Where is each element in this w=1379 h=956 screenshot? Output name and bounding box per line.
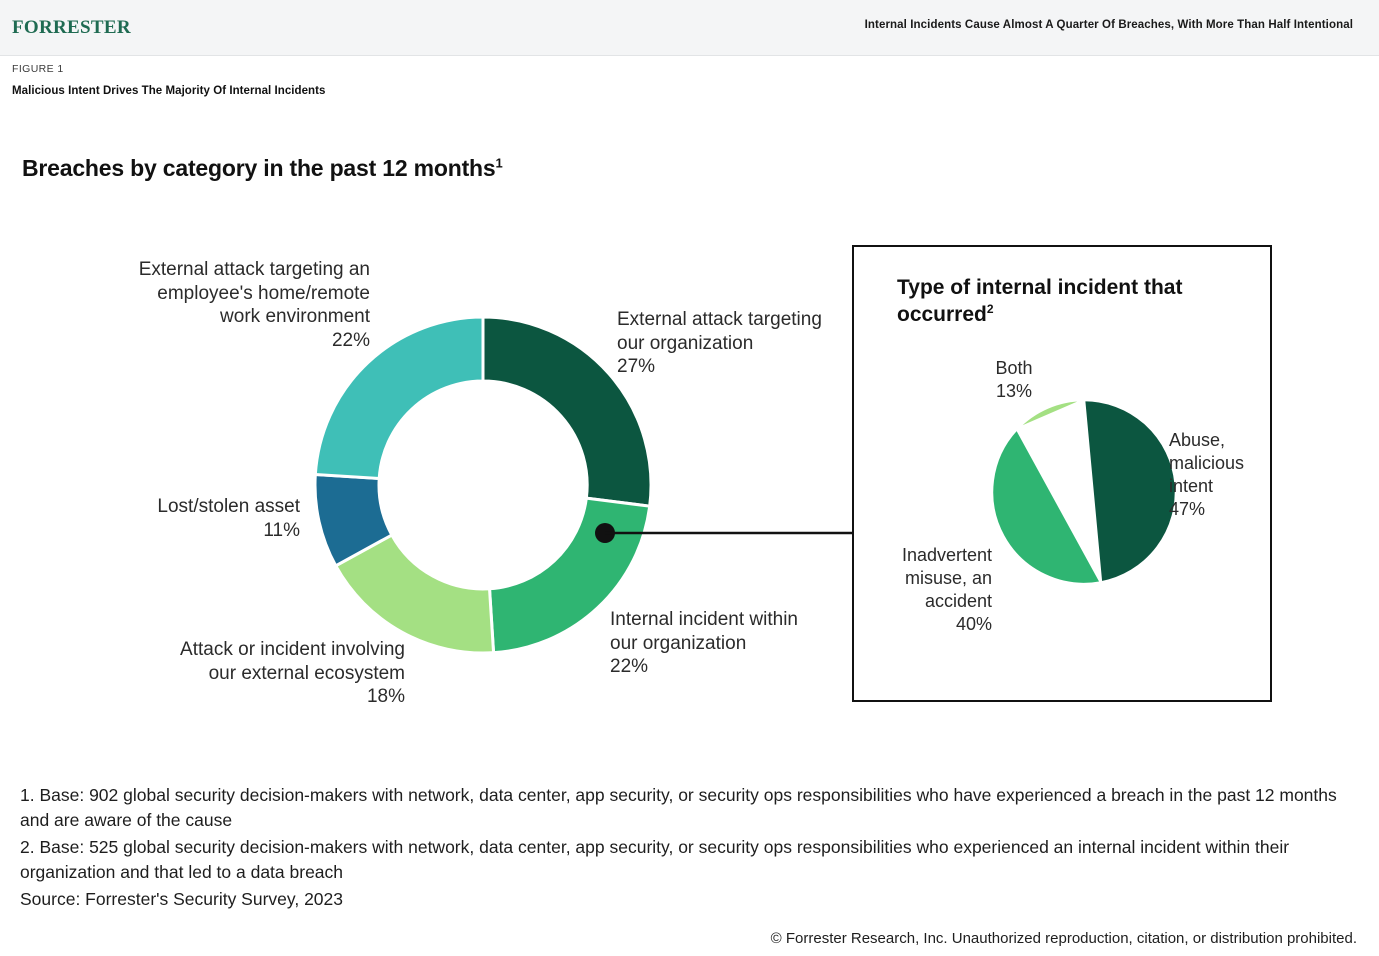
footnote-1: 1. Base: 902 global security decision-ma…: [20, 783, 1360, 832]
figure-page: FORRESTER Internal Incidents Cause Almos…: [0, 0, 1379, 956]
footnotes-block: 1. Base: 902 global security decision-ma…: [20, 783, 1360, 915]
footnote-2: 2. Base: 525 global security decision-ma…: [20, 835, 1360, 884]
chart-title: Breaches by category in the past 12 mont…: [22, 155, 503, 182]
pie-svg: [989, 397, 1179, 587]
leader-svg: [594, 520, 864, 546]
page-header: FORRESTER Internal Incidents Cause Almos…: [0, 0, 1379, 56]
pie-slice-both: [1017, 400, 1084, 429]
callout-leader-line: [594, 520, 864, 546]
internal-incident-pie-chart: [989, 397, 1179, 587]
donut-label-lost-stolen-asset: Lost/stolen asset 11%: [95, 495, 300, 542]
forrester-logo: FORRESTER: [12, 17, 131, 39]
inset-title-text: Type of internal incident that occurred: [897, 276, 1182, 326]
figure-title: Malicious Intent Drives The Majority Of …: [12, 85, 325, 97]
copyright-notice: © Forrester Research, Inc. Unauthorized …: [771, 930, 1357, 947]
chart-title-text: Breaches by category in the past 12 mont…: [22, 155, 495, 181]
pie-label-both: Both 13%: [959, 357, 1069, 403]
inset-title: Type of internal incident that occurred2: [897, 274, 1227, 328]
pie-label-abuse-malicious-intent: Abuse, malicious intent 47%: [1169, 429, 1279, 521]
donut-label-external-ecosystem: Attack or incident involving our externa…: [95, 638, 405, 709]
pie-slice-inadvertent-misuse: [992, 429, 1101, 584]
donut-label-remote-work-attack: External attack targeting an employee's …: [95, 258, 370, 352]
running-title: Internal Incidents Cause Almost A Quarte…: [865, 19, 1353, 31]
footnote-source: Source: Forrester's Security Survey, 202…: [20, 887, 1360, 912]
donut-label-internal-incident: Internal incident within our organizatio…: [610, 608, 850, 679]
chart-title-footnote-marker: 1: [495, 155, 502, 170]
pie-label-inadvertent-misuse: Inadvertent misuse, an accident 40%: [862, 544, 992, 636]
internal-incident-inset-panel: Type of internal incident that occurred2…: [852, 245, 1272, 702]
inset-title-footnote-marker: 2: [987, 302, 994, 316]
donut-label-external-attack-org: External attack targeting our organizati…: [617, 308, 857, 379]
figure-number: FIGURE 1: [12, 63, 64, 75]
pie-slice-abuse-malicious-intent: [1084, 400, 1176, 582]
